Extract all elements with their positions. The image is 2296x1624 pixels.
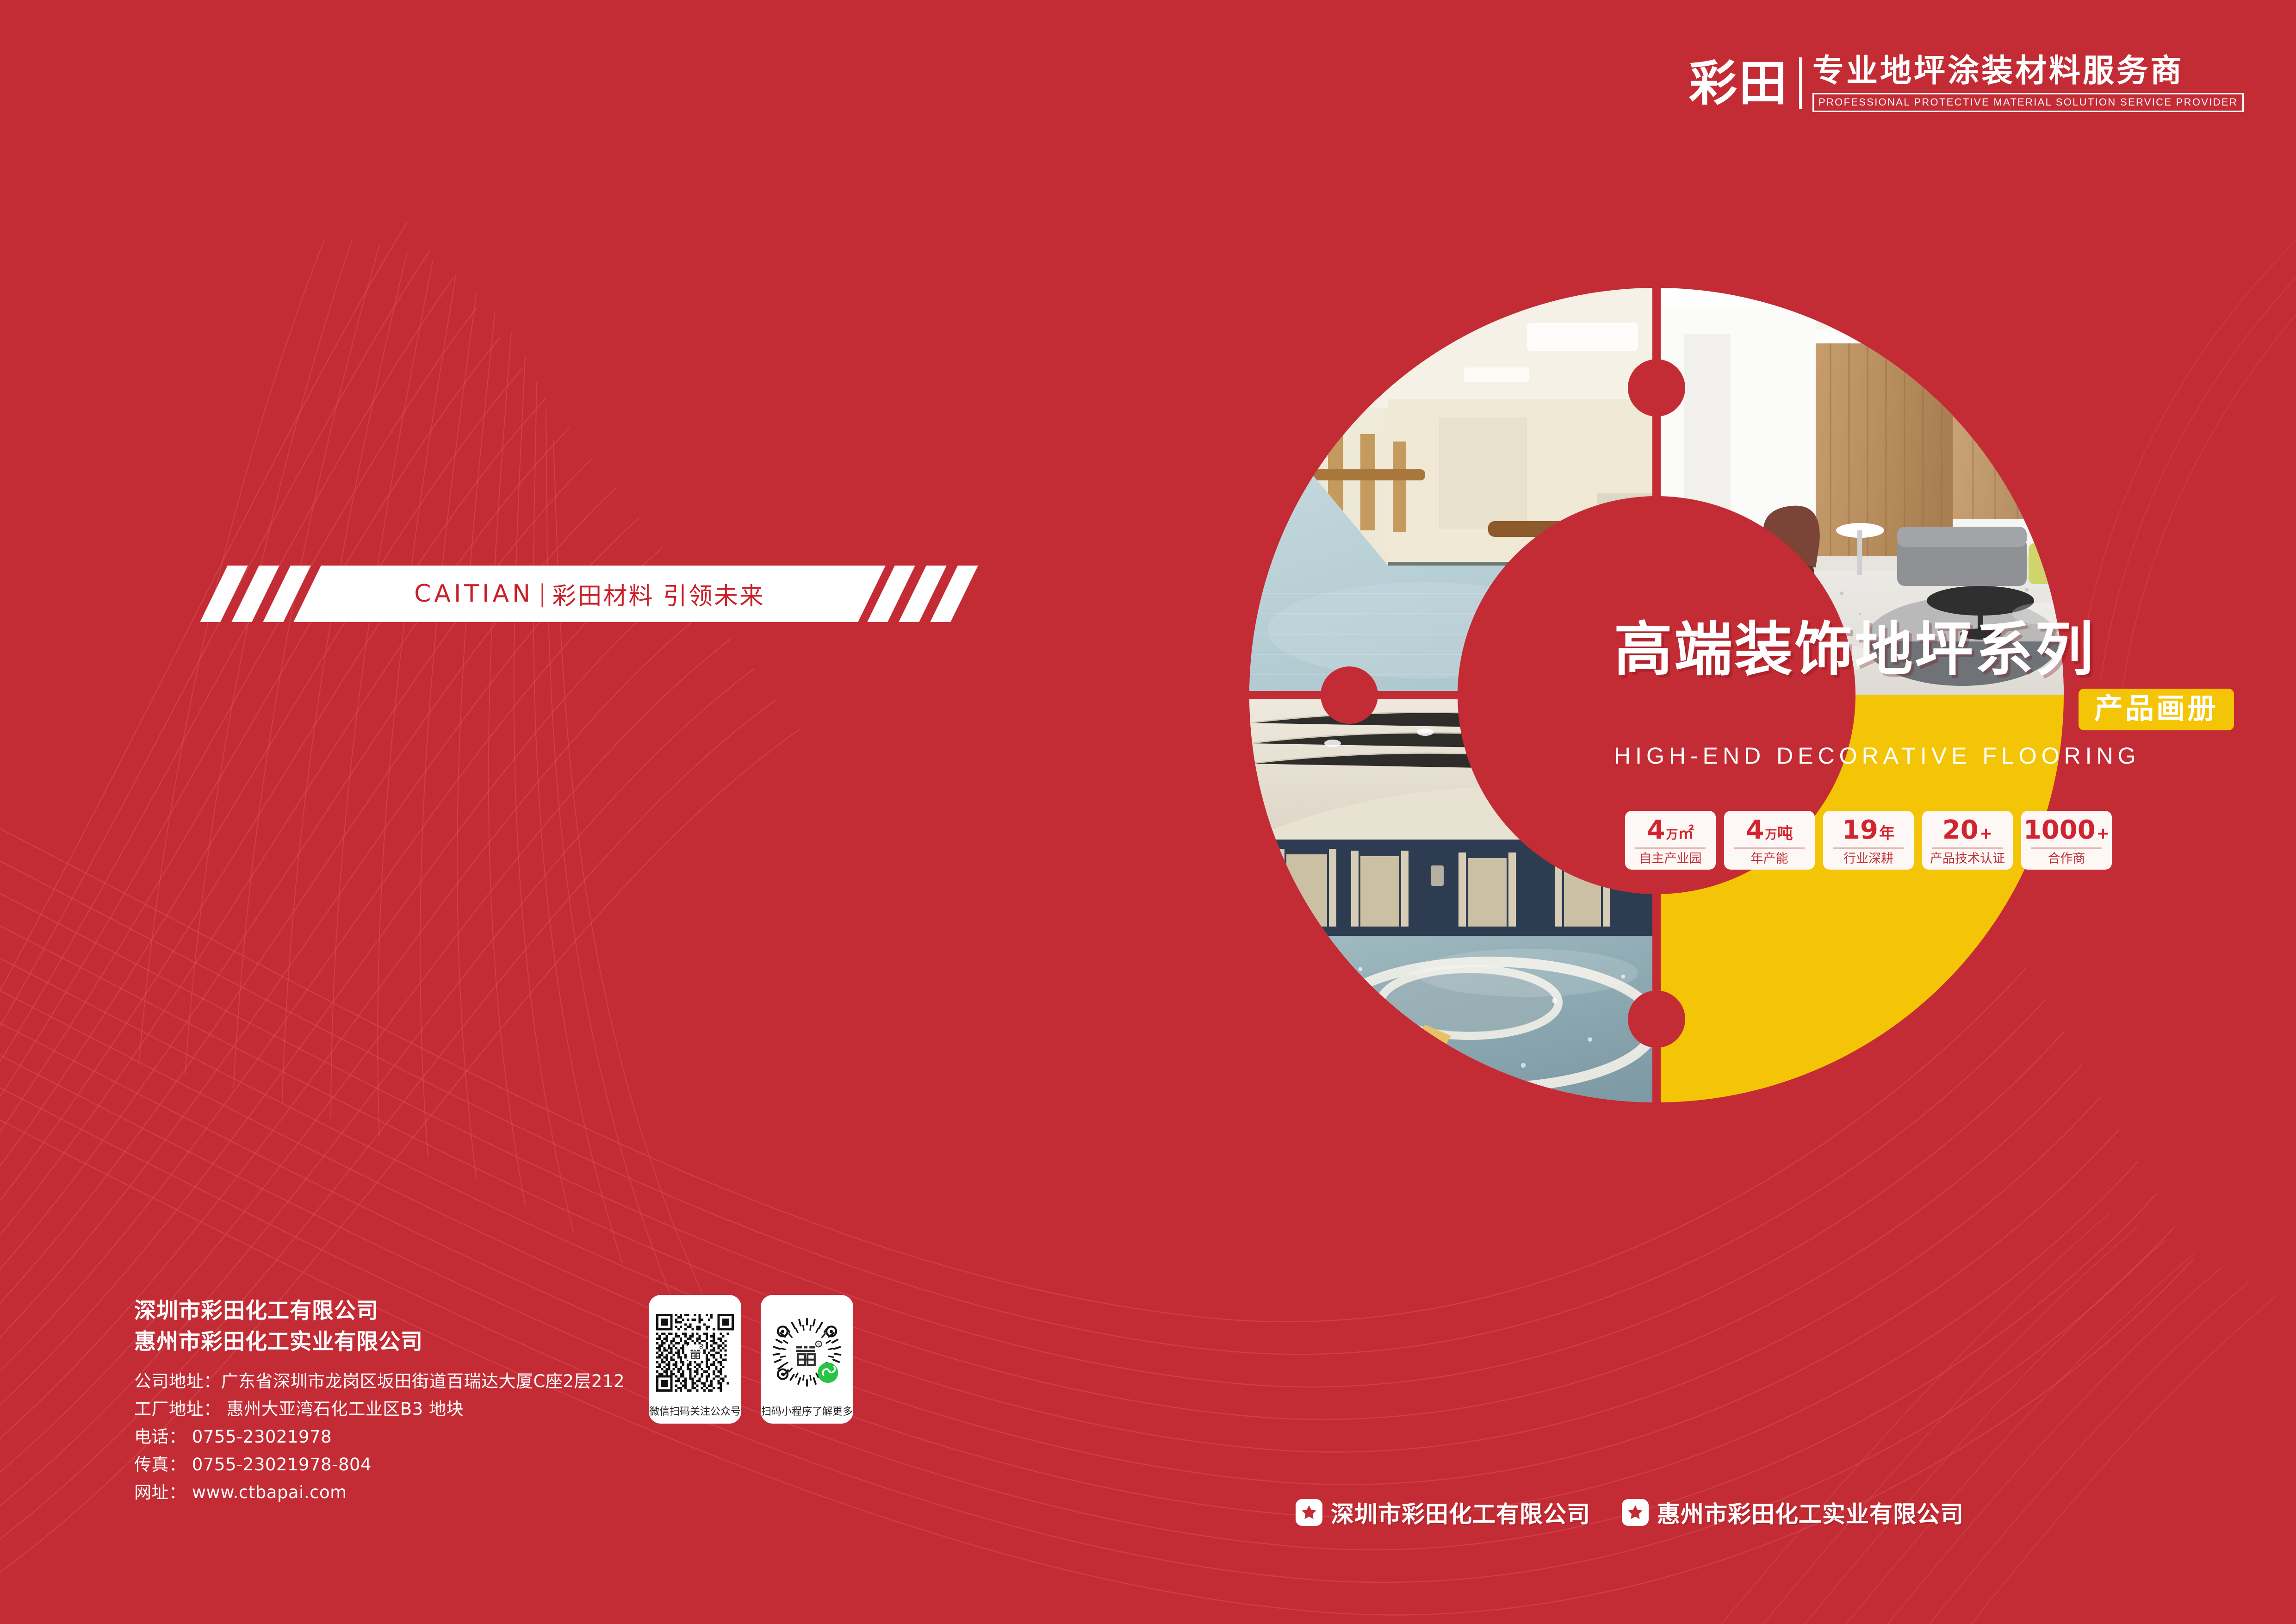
stat-number: 1000 <box>2023 817 2096 843</box>
stat-card: 20+ 产品技术认证 <box>1922 811 2013 870</box>
miniprogram-icon <box>818 1363 838 1383</box>
stat-suffix: + <box>1980 826 1993 841</box>
banner-text-divider: | <box>538 580 548 608</box>
banner-text-en: CAITIAN <box>414 580 534 608</box>
brand-logo-lockup: 彩田 专业地坪涂装材料服务商 PROFESSIONAL PROTECTIVE M… <box>1689 55 2244 112</box>
headline-block: 高端装饰地坪系列 产品画册 HIGH-END DECORATIVE FLOORI… <box>1614 618 2234 769</box>
stat-card: 1000+ 合作商 <box>2021 811 2112 870</box>
stat-card: 19年 行业深耕 <box>1823 811 1914 870</box>
ring-connector-dot-bottom <box>1628 990 1685 1048</box>
stat-suffix: 年 <box>1879 826 1895 841</box>
star-icon <box>1622 1499 1649 1526</box>
star-icon <box>1296 1499 1322 1526</box>
stat-number: 4 <box>1746 817 1764 843</box>
stat-label: 自主产业园 <box>1639 852 1702 865</box>
footer-chip: 深圳市彩田化工有限公司 <box>1296 1496 1590 1529</box>
stat-label: 年产能 <box>1751 852 1788 865</box>
stat-unit: 万 <box>1666 829 1678 841</box>
contact-details: 公司地址：广东省深圳市龙岗区坂田街道百瑞达大厦C座2层212 工厂地址： 惠州大… <box>134 1368 625 1506</box>
stat-label: 行业深耕 <box>1843 852 1893 865</box>
stat-value: 20+ <box>1942 817 1992 843</box>
stat-suffix: + <box>2097 826 2110 841</box>
contact-phone: 电话： 0755-23021978 <box>134 1423 625 1451</box>
contact-company-2: 惠州市彩田化工实业有限公司 <box>134 1327 625 1358</box>
stat-rule <box>1932 847 2002 849</box>
qr-caption: 微信扫码关注公众号 <box>649 1407 741 1417</box>
footer-company-chips: 深圳市彩田化工有限公司 惠州市彩田化工实业有限公司 <box>1296 1496 1964 1529</box>
footer-chip: 惠州市彩田化工实业有限公司 <box>1622 1496 1964 1529</box>
stat-value: 4万㎡ <box>1647 817 1694 843</box>
qr-code-image: R <box>768 1304 846 1401</box>
stat-unit: 万 <box>1765 829 1777 841</box>
page-subtitle: HIGH-END DECORATIVE FLOORING <box>1614 742 2234 769</box>
contact-website[interactable]: 网址： www.ctbapai.com <box>134 1479 625 1506</box>
contact-fax: 传真： 0755-23021978-804 <box>134 1451 625 1479</box>
qr-card-official-account[interactable]: 微信扫码关注公众号 <box>649 1295 741 1424</box>
stat-label: 合作商 <box>2048 852 2085 865</box>
page-title: 高端装饰地坪系列 <box>1614 618 2234 681</box>
logo-tagline-en: PROFESSIONAL PROTECTIVE MATERIAL SOLUTIO… <box>1812 93 2244 112</box>
stat-rule <box>2031 847 2101 849</box>
stat-card: 4万㎡ 自主产业园 <box>1625 811 1716 870</box>
stat-rule <box>1734 847 1804 849</box>
banner-text: CAITIAN | 彩田材料 引领未来 <box>307 566 872 622</box>
ring-connector-dot-left <box>1321 666 1378 724</box>
stat-rule <box>1635 847 1705 849</box>
stat-card: 4万吨 年产能 <box>1724 811 1815 870</box>
stat-suffix: ㎡ <box>1678 826 1694 841</box>
logo-divider <box>1799 57 1802 109</box>
tagline-banner: CAITIAN | 彩田材料 引领未来 <box>209 566 968 622</box>
qr-card-list: 微信扫码关注公众号 <box>649 1295 853 1424</box>
stat-rule <box>1833 847 1903 849</box>
qr-code-image <box>656 1304 734 1401</box>
stat-label: 产品技术认证 <box>1930 852 2005 865</box>
banner-text-cn: 彩田材料 引领未来 <box>552 577 765 611</box>
headline-badge-row: 产品画册 <box>1614 689 2234 730</box>
logo-tagline-group: 专业地坪涂装材料服务商 PROFESSIONAL PROTECTIVE MATE… <box>1802 55 2244 112</box>
qr-card-mini-program[interactable]: R 扫码小程序了解更多 <box>761 1295 853 1424</box>
stat-value: 1000+ <box>2023 817 2110 843</box>
stat-number: 20 <box>1942 817 1979 843</box>
contact-company-1: 深圳市彩田化工有限公司 <box>134 1296 625 1327</box>
logo-wordmark: 彩田 <box>1689 55 1799 112</box>
logo-tagline-cn: 专业地坪涂装材料服务商 <box>1812 55 2244 87</box>
stat-value: 19年 <box>1842 817 1895 843</box>
footer-chip-label: 深圳市彩田化工有限公司 <box>1331 1496 1590 1529</box>
catalog-badge: 产品画册 <box>2079 689 2234 730</box>
footer-chip-label: 惠州市彩田化工实业有限公司 <box>1657 1496 1964 1529</box>
stat-suffix: 吨 <box>1777 826 1793 841</box>
qr-caption: 扫码小程序了解更多 <box>761 1407 853 1417</box>
stat-card-list: 4万㎡ 自主产业园 4万吨 年产能 19年 行业深耕 20+ 产品技术认证 <box>1625 811 2112 870</box>
stat-number: 4 <box>1647 817 1665 843</box>
stat-value: 4万吨 <box>1746 817 1793 843</box>
contact-block: 深圳市彩田化工有限公司 惠州市彩田化工实业有限公司 公司地址：广东省深圳市龙岗区… <box>134 1296 625 1506</box>
stat-number: 19 <box>1842 817 1878 843</box>
contact-factory-address: 工厂地址： 惠州大亚湾石化工业区B3 地块 <box>134 1395 625 1423</box>
brochure-cover-page: 彩田 专业地坪涂装材料服务商 PROFESSIONAL PROTECTIVE M… <box>0 0 2296 1624</box>
contact-office-address: 公司地址：广东省深圳市龙岗区坂田街道百瑞达大厦C座2层212 <box>134 1368 625 1395</box>
ring-connector-dot-top <box>1628 359 1685 417</box>
svg-text:R: R <box>817 1342 820 1346</box>
